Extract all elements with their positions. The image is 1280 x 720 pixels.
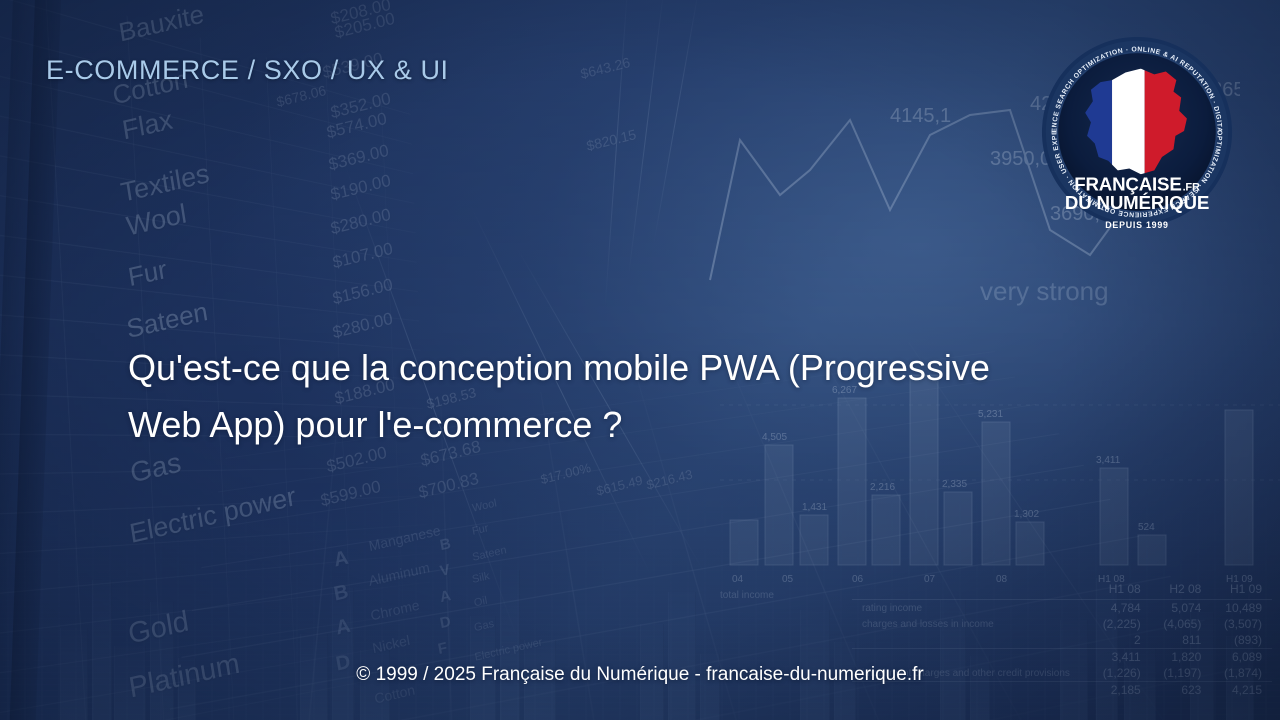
table-row: 3,411 1,820 6,089 [852,649,1272,666]
table-row: charges and losses in income (2,225) (4,… [852,616,1272,632]
table-row-label: rating income [852,600,1090,617]
brand-logo[interactable]: ARTIFICIAL INTELLIGENCE SEARCH OPTIMIZAT… [1041,36,1233,228]
table-cell: (3,507) [1211,616,1272,632]
background-financial-table: H1 08 H2 08 H1 09 rating income 4,784 5,… [852,581,1272,716]
brand-name-line2: DU NUMÉRIQUE [1065,192,1209,213]
page-title: Qu'est-ce que la conception mobile PWA (… [128,340,1138,454]
slide-footer-copyright: © 1999 / 2025 Française du Numérique - f… [0,664,1280,686]
table-cell: 1,820 [1151,649,1212,666]
badge-wordmark: FRANÇAISE.FR DU NUMÉRIQUE DEPUIS 1999 [1065,174,1209,228]
brand-logo-badge: ARTIFICIAL INTELLIGENCE SEARCH OPTIMIZAT… [1041,36,1233,228]
bar-axis-tick: 04 [732,574,744,585]
table-row: rating income 4,784 5,074 10,489 [852,600,1272,617]
table-cell: 3,411 [1090,649,1151,666]
bar-label: 524 [1138,522,1155,533]
table-cell: (2,225) [1090,616,1151,632]
bar-label: 1,302 [1014,509,1039,520]
table-row-label [852,649,1090,666]
page-title-line-1: Qu'est-ce que la conception mobile PWA (… [128,340,1138,397]
table-corner-cell [852,581,1090,600]
table-cell: 2 [1090,632,1151,649]
table-row-label: charges and losses in income [852,616,1090,632]
page-title-line-2: Web App) pour l'e-commerce ? [128,397,1138,454]
line-chart-note: very strong [980,276,1109,306]
bar-label: 2,335 [942,479,967,490]
table-cell: 10,489 [1211,600,1272,617]
bar-label: 3,411 [1096,455,1121,466]
table-column-header: H1 08 [1090,581,1151,600]
table-cell: 5,074 [1151,600,1212,617]
table-cell: 6,089 [1211,649,1272,666]
table-column-header: H2 08 [1151,581,1212,600]
slide-kicker: E-COMMERCE / SXO / UX & UI [46,55,449,86]
table-cell: 811 [1151,632,1212,649]
table-header-row: H1 08 H2 08 H1 09 [852,581,1272,600]
table-cell: (4,065) [1151,616,1212,632]
bar-axis-tick: 05 [782,574,794,585]
brand-since-label: DEPUIS 1999 [1105,220,1168,228]
bar-label: 2,216 [870,482,895,493]
presentation-slide: Bauxite Cotton Flax Textiles Wool Fur Sa… [0,0,1280,720]
table-cell: (893) [1211,632,1272,649]
line-chart-label: 4145,1 [890,105,951,127]
table-cell: 4,784 [1090,600,1151,617]
bar-label: 1,431 [802,502,827,513]
table-row: 2 811 (893) [852,632,1272,649]
bar-axis-title: total income [720,590,774,600]
table-column-header: H1 09 [1211,581,1272,600]
table-row-label [852,632,1090,649]
